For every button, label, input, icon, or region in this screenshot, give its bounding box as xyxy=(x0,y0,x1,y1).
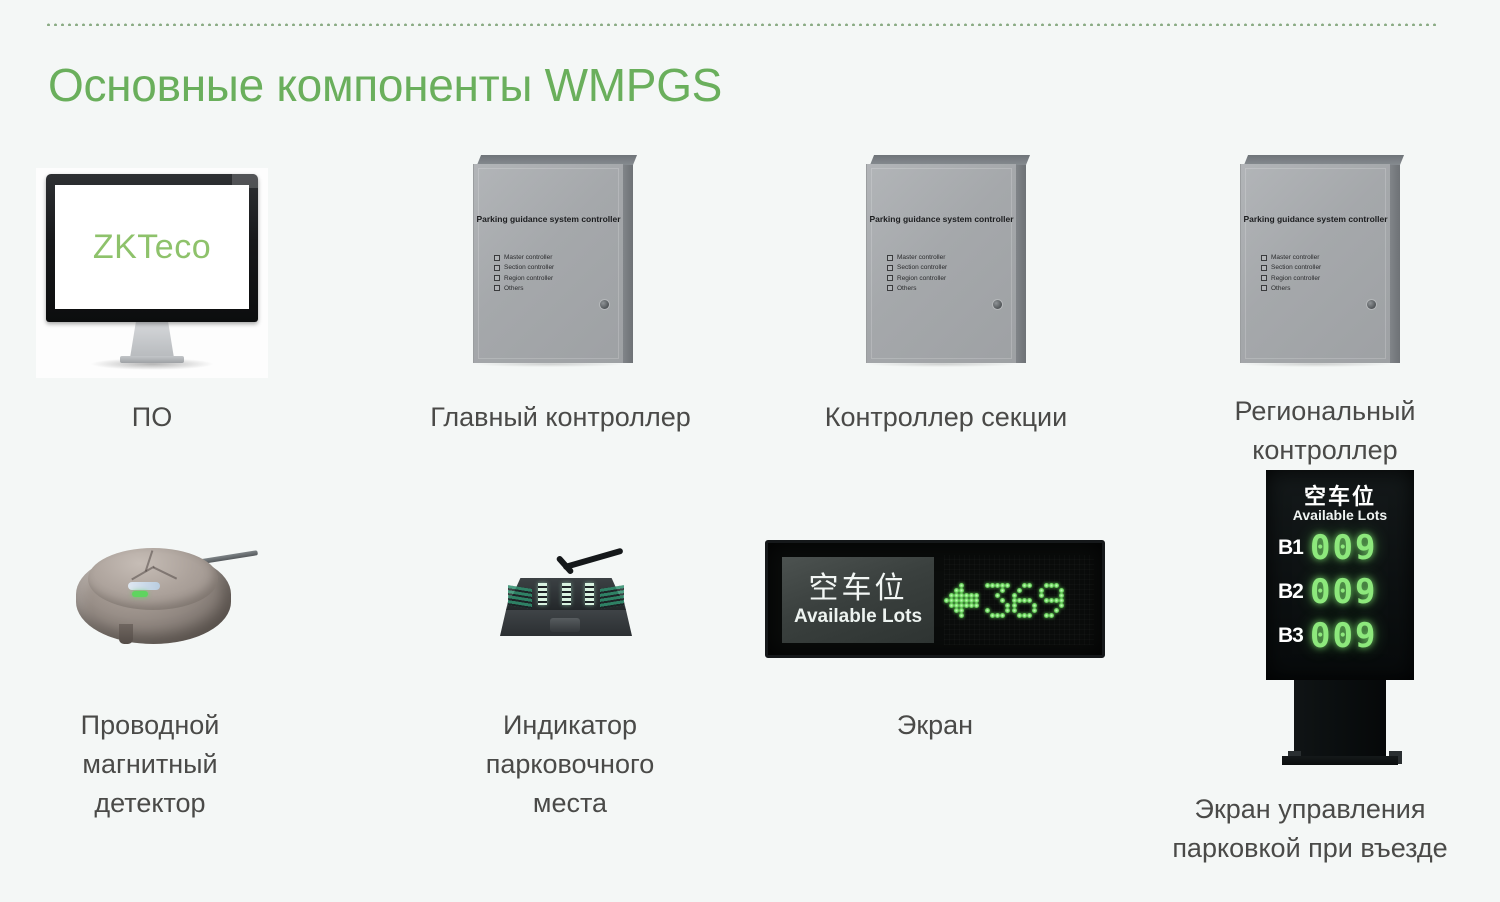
indicator-led-column xyxy=(538,583,547,605)
checkbox-icon xyxy=(887,265,893,271)
checkbox-icon xyxy=(887,275,893,281)
kiosk-level-count: 009 xyxy=(1310,619,1377,653)
monitor-bezel: ZKTeco xyxy=(46,174,258,322)
component-led-screen-image: 空车位 Available Lots xyxy=(765,540,1105,658)
checkbox-icon xyxy=(1261,255,1267,261)
checkbox-icon xyxy=(1261,285,1267,291)
controller-option-label: Section controller xyxy=(897,264,947,271)
controller-face-title: Parking guidance system controller xyxy=(474,214,623,224)
component-space-indicator-image xyxy=(496,556,636,651)
left-arrow-icon xyxy=(944,583,979,618)
indicator-left-leds xyxy=(508,585,532,609)
controller-option-label: Region controller xyxy=(897,275,946,282)
checkbox-icon xyxy=(494,255,500,261)
led-screen-matrix-panel xyxy=(944,555,1094,645)
controller-option: Others xyxy=(887,285,947,292)
controller-option-label: Region controller xyxy=(1271,275,1320,282)
controller-option-label: Master controller xyxy=(504,254,552,261)
indicator-center-leds xyxy=(538,583,594,605)
kiosk-base-plate xyxy=(1282,756,1398,765)
kiosk-level-row: B1 009 xyxy=(1278,530,1406,566)
controller-option-label: Master controller xyxy=(1271,254,1319,261)
controller-option: Others xyxy=(1261,285,1321,292)
controller-option-list: Master controller Section controller Reg… xyxy=(887,254,947,295)
controller-front-face: Parking guidance system controller Maste… xyxy=(1240,164,1390,363)
caption-led-screen: Экран xyxy=(800,706,1070,745)
caption-master-controller: Главный контроллер xyxy=(403,398,718,437)
kiosk-level-count: 009 xyxy=(1310,575,1377,609)
controller-option: Master controller xyxy=(887,254,947,261)
controller-option-list: Master controller Section controller Reg… xyxy=(494,254,554,295)
kiosk-english-header: Available Lots xyxy=(1266,507,1414,523)
kiosk-level-row: B3 009 xyxy=(1278,618,1406,654)
checkbox-icon xyxy=(494,285,500,291)
indicator-mount-plate xyxy=(550,618,580,632)
checkbox-icon xyxy=(1261,275,1267,281)
kiosk-level-label: B3 xyxy=(1278,624,1310,648)
page-title: Основные компоненты WMPGS xyxy=(48,58,722,112)
controller-option-label: Master controller xyxy=(897,254,945,261)
lock-icon xyxy=(993,300,1002,309)
kiosk-level-row: B2 009 xyxy=(1278,574,1406,610)
controller-option: Region controller xyxy=(494,275,554,282)
kiosk-display-head: 空车位 Available Lots B1 009 B2 009 B3 009 xyxy=(1266,470,1414,680)
controller-option-label: Others xyxy=(897,285,917,292)
kiosk-level-count: 009 xyxy=(1310,531,1377,565)
controller-option: Master controller xyxy=(1261,254,1321,261)
controller-option: Section controller xyxy=(1261,264,1321,271)
indicator-right-leds xyxy=(600,585,624,609)
kiosk-stand-stem xyxy=(1294,680,1386,758)
led-digit xyxy=(985,583,1010,618)
controller-option-label: Region controller xyxy=(504,275,553,282)
detector-status-led xyxy=(132,591,148,597)
header-dotted-divider xyxy=(45,22,1437,26)
checkbox-icon xyxy=(887,255,893,261)
controller-option-label: Others xyxy=(504,285,524,292)
lock-icon xyxy=(600,300,609,309)
checkbox-icon xyxy=(887,285,893,291)
component-master-controller-image: Parking guidance system controller Maste… xyxy=(473,155,633,363)
controller-option-list: Master controller Section controller Reg… xyxy=(1261,254,1321,295)
led-digit xyxy=(1012,583,1037,618)
checkbox-icon xyxy=(494,265,500,271)
controller-option: Section controller xyxy=(887,264,947,271)
component-magnetic-detector-image xyxy=(70,528,260,658)
component-entrance-kiosk-image: 空车位 Available Lots B1 009 B2 009 B3 009 xyxy=(1266,470,1426,770)
detector-notch xyxy=(119,624,133,644)
indicator-led-column xyxy=(585,583,594,605)
checkbox-icon xyxy=(1261,265,1267,271)
kiosk-level-label: B2 xyxy=(1278,580,1310,604)
caption-region-controller: Региональный контроллер xyxy=(1190,392,1460,470)
led-screen-text-panel: 空车位 Available Lots xyxy=(782,557,934,643)
led-screen-chinese-label: 空车位 xyxy=(809,574,908,604)
controller-option: Master controller xyxy=(494,254,554,261)
caption-section-controller: Контроллер секции xyxy=(796,398,1096,437)
kiosk-level-label: B1 xyxy=(1278,536,1310,560)
component-region-controller-image: Parking guidance system controller Maste… xyxy=(1240,155,1400,363)
monitor-foot xyxy=(120,356,184,363)
caption-magnetic-detector: Проводной магнитный детектор xyxy=(35,706,265,823)
controller-front-face: Parking guidance system controller Maste… xyxy=(866,164,1016,363)
controller-face-title: Parking guidance system controller xyxy=(867,214,1016,224)
detector-top-shell xyxy=(88,548,218,610)
component-software-image: ZKTeco xyxy=(36,168,268,378)
kiosk-level-rows: B1 009 B2 009 B3 009 xyxy=(1278,530,1406,662)
controller-option-label: Section controller xyxy=(504,264,554,271)
led-digit xyxy=(1039,583,1064,618)
caption-software: ПО xyxy=(36,398,268,437)
component-section-controller-image: Parking guidance system controller Maste… xyxy=(866,155,1026,363)
caption-space-indicator: Индикатор парковочного места xyxy=(430,706,710,823)
controller-option-label: Section controller xyxy=(1271,264,1321,271)
controller-option: Others xyxy=(494,285,554,292)
led-screen-english-label: Available Lots xyxy=(794,607,922,626)
controller-option: Region controller xyxy=(1261,275,1321,282)
controller-option: Section controller xyxy=(494,264,554,271)
controller-option-label: Others xyxy=(1271,285,1291,292)
monitor-neck xyxy=(130,320,174,358)
detector-brand-label xyxy=(128,582,160,590)
zkteco-logo: ZKTeco xyxy=(93,228,211,267)
controller-option: Region controller xyxy=(887,275,947,282)
checkbox-icon xyxy=(494,275,500,281)
indicator-led-column xyxy=(562,583,571,605)
monitor-screen: ZKTeco xyxy=(55,185,249,309)
controller-face-title: Parking guidance system controller xyxy=(1241,214,1390,224)
caption-entrance-kiosk: Экран управления парковкой при въезде xyxy=(1130,790,1490,868)
lock-icon xyxy=(1367,300,1376,309)
controller-front-face: Parking guidance system controller Maste… xyxy=(473,164,623,363)
